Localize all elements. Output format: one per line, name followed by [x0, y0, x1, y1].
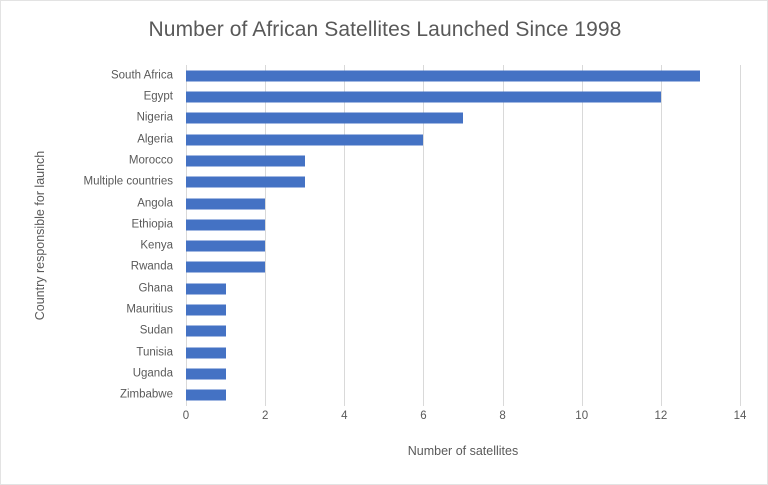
x-axis-title: Number of satellites [186, 444, 740, 458]
bar-row [186, 108, 740, 129]
y-tick-label: South Africa [111, 69, 173, 82]
chart-title: Number of African Satellites Launched Si… [1, 18, 768, 42]
bar [186, 177, 305, 188]
y-tick-label: Sudan [140, 325, 173, 338]
y-tick-label: Uganda [133, 368, 173, 381]
bar [186, 198, 265, 209]
y-tick-label: Ghana [138, 282, 173, 295]
bar-row [186, 278, 740, 299]
gridline [740, 65, 741, 406]
bar [186, 326, 226, 337]
y-tick-label: Mauritius [126, 304, 173, 317]
bar [186, 347, 226, 358]
bar-row [186, 172, 740, 193]
bar [186, 262, 265, 273]
bar-row [186, 65, 740, 86]
bar-series [186, 65, 740, 406]
y-tick-label: Kenya [140, 240, 173, 253]
y-tick-label: Nigeria [137, 112, 173, 125]
y-tick-label: Rwanda [131, 261, 173, 274]
bar-row [186, 321, 740, 342]
x-tick-label: 8 [499, 410, 505, 422]
x-axis-tick-labels: 02468101214 [186, 410, 740, 430]
x-tick-label: 2 [262, 410, 268, 422]
bar-row [186, 385, 740, 406]
y-axis-tick-labels: South AfricaEgyptNigeriaAlgeriaMoroccoMu… [1, 65, 182, 406]
bar-row [186, 363, 740, 384]
bar [186, 134, 423, 145]
bar-row [186, 129, 740, 150]
bar-row [186, 342, 740, 363]
bar-row [186, 257, 740, 278]
bar [186, 390, 226, 401]
bar-row [186, 150, 740, 171]
plot-area [186, 65, 740, 406]
bar [186, 113, 463, 124]
y-tick-label: Zimbabwe [120, 389, 173, 402]
bar [186, 305, 226, 316]
x-tick-label: 14 [734, 410, 747, 422]
y-tick-label: Morocco [129, 154, 173, 167]
bar-row [186, 214, 740, 235]
y-tick-label: Algeria [137, 133, 173, 146]
x-tick-label: 12 [654, 410, 667, 422]
bar [186, 91, 661, 102]
y-tick-label: Tunisia [136, 346, 173, 359]
bar [186, 283, 226, 294]
bar-row [186, 299, 740, 320]
bar [186, 155, 305, 166]
y-tick-label: Angola [137, 197, 173, 210]
bar-row [186, 86, 740, 107]
y-tick-label: Egypt [144, 90, 173, 103]
y-tick-label: Multiple countries [84, 176, 173, 189]
bar [186, 219, 265, 230]
x-tick-label: 4 [341, 410, 347, 422]
bar-row [186, 193, 740, 214]
bar [186, 369, 226, 380]
x-tick-label: 0 [183, 410, 189, 422]
chart-container: Number of African Satellites Launched Si… [0, 0, 768, 485]
x-tick-label: 6 [420, 410, 426, 422]
y-tick-label: Ethiopia [131, 218, 173, 231]
bar [186, 241, 265, 252]
bar-row [186, 236, 740, 257]
x-tick-label: 10 [575, 410, 588, 422]
bar [186, 70, 700, 81]
